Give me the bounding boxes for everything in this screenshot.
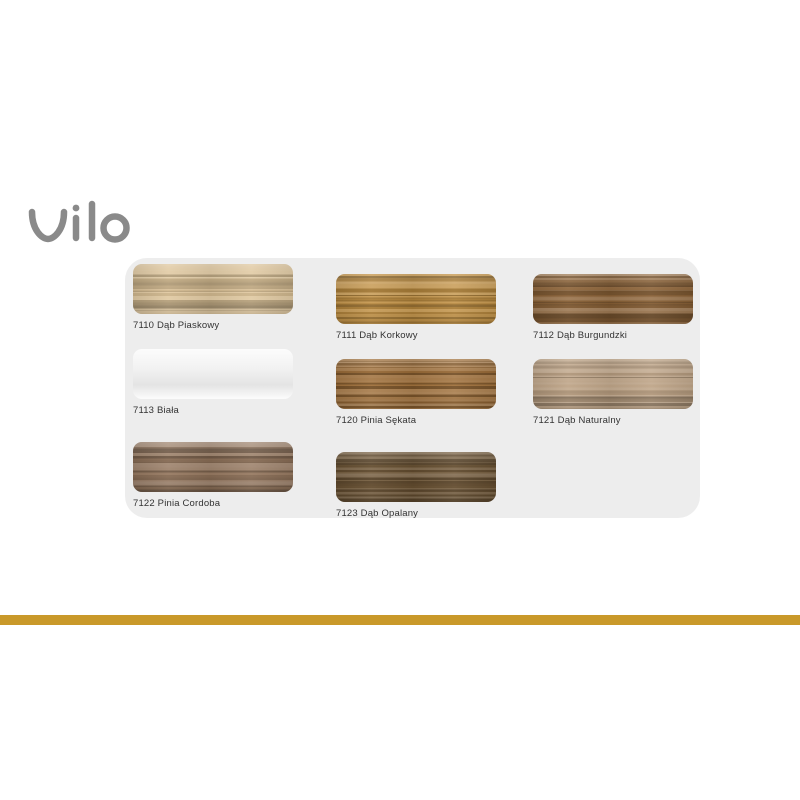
swatch-label-7110: 7110 Dąb Piaskowy	[133, 321, 293, 331]
swatch-chip-7111[interactable]	[336, 274, 496, 324]
swatch-chip-7113[interactable]	[133, 349, 293, 399]
swatch-item-7111[interactable]: 7111 Dąb Korkowy	[336, 274, 496, 341]
swatch-label-7121: 7121 Dąb Naturalny	[533, 416, 693, 426]
swatch-item-7121[interactable]: 7121 Dąb Naturalny	[533, 359, 693, 426]
decor-swatch-grid: 7110 Dąb Piaskowy 7111 Dąb Korkowy 7112 …	[133, 264, 713, 516]
swatch-label-7112: 7112 Dąb Burgundzki	[533, 331, 693, 341]
swatch-chip-7112[interactable]	[533, 274, 693, 324]
swatch-chip-7120[interactable]	[336, 359, 496, 409]
swatch-item-7113[interactable]: 7113 Biała	[133, 349, 293, 416]
swatch-item-7120[interactable]: 7120 Pinia Sękata	[336, 359, 496, 426]
swatch-label-7120: 7120 Pinia Sękata	[336, 416, 496, 426]
swatch-label-7123: 7123 Dąb Opalany	[336, 509, 496, 519]
swatch-chip-7122[interactable]	[133, 442, 293, 492]
swatch-item-7110[interactable]: 7110 Dąb Piaskowy	[133, 264, 293, 331]
logo-i-dot	[73, 205, 80, 212]
swatch-label-7111: 7111 Dąb Korkowy	[336, 331, 496, 341]
swatch-label-7122: 7122 Pinia Cordoba	[133, 499, 293, 509]
swatch-label-7113: 7113 Biała	[133, 406, 293, 416]
swatch-chip-7121[interactable]	[533, 359, 693, 409]
swatch-item-7122[interactable]: 7122 Pinia Cordoba	[133, 442, 293, 509]
swatch-item-7123[interactable]: 7123 Dąb Opalany	[336, 452, 496, 519]
swatch-item-7112[interactable]: 7112 Dąb Burgundzki	[533, 274, 693, 341]
swatch-chip-7123[interactable]	[336, 452, 496, 502]
logo-o	[104, 217, 127, 240]
swatch-chip-7110[interactable]	[133, 264, 293, 314]
accent-bar	[0, 615, 800, 625]
vilo-logo	[26, 196, 146, 252]
